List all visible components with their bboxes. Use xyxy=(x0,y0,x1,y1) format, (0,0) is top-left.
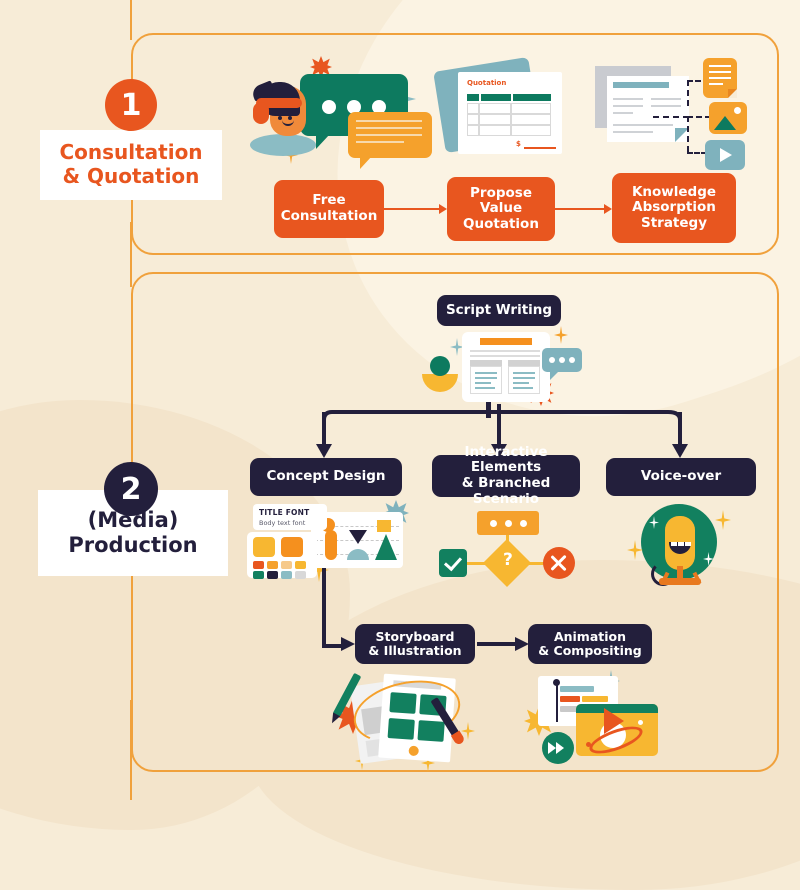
step-knowledge-absorption-strategy[interactable]: KnowledgeAbsorptionStrategy xyxy=(612,173,736,243)
step-storyboard-illustration[interactable]: Storyboard& Illustration xyxy=(355,624,475,664)
animation-compositing-illustration xyxy=(528,670,668,766)
step-label-line: Script Writing xyxy=(446,303,552,319)
step-label-line: Quotation xyxy=(463,216,539,232)
video-play-icon xyxy=(705,140,745,170)
title-font-label: TITLE FONT xyxy=(259,508,309,517)
infographic-canvas: Quotation $ xyxy=(0,0,800,800)
palette-swatch xyxy=(295,561,306,569)
yellow-half-circle xyxy=(422,374,458,392)
amount-symbol: $ xyxy=(516,140,521,148)
step-label-line: Storyboard xyxy=(376,629,455,644)
step-free-consultation[interactable]: FreeConsultation xyxy=(274,180,384,238)
connector-line xyxy=(384,208,440,210)
step-label-line: Consultation xyxy=(281,208,378,224)
stage-2-number-badge: 2 xyxy=(104,462,158,516)
stage-title-line: Consultation xyxy=(59,141,202,165)
step-label-line: Propose xyxy=(470,185,532,201)
font-specimen-card: TITLE FONT Body text font xyxy=(253,504,327,530)
step-script-writing[interactable]: Script Writing xyxy=(437,295,561,326)
stage-1-title: Consultation & Quotation xyxy=(40,130,222,200)
orange-speech-bubble xyxy=(348,112,432,158)
figure-shape xyxy=(325,530,337,560)
stage-1-number-badge: 1 xyxy=(105,79,157,131)
step-concept-design[interactable]: Concept Design xyxy=(250,458,402,496)
close-icon xyxy=(543,547,575,579)
stage-title-line: & Quotation xyxy=(63,165,200,189)
document-stand xyxy=(486,402,491,418)
step-propose-value-quotation[interactable]: ProposeValueQuotation xyxy=(447,177,555,241)
step-label-line: Absorption xyxy=(632,199,716,215)
palette-swatch xyxy=(267,571,278,579)
knowledge-absorption-illustration xyxy=(595,58,755,168)
amount-blank-line xyxy=(524,147,556,149)
document-title-bar xyxy=(480,338,532,345)
document-header-bar xyxy=(613,82,669,88)
palette-swatch xyxy=(281,537,303,557)
step-label-line: & Compositing xyxy=(538,643,641,658)
quotation-document-illustration: Quotation $ xyxy=(437,60,569,168)
step-interactive-elements[interactable]: Interactive Elements& Branched Scenario xyxy=(432,455,580,497)
step-label-line: Animation xyxy=(554,629,626,644)
bubble-dot xyxy=(322,100,336,114)
palette-swatch xyxy=(295,571,306,579)
headphone-cup xyxy=(253,102,269,124)
palette-swatch xyxy=(253,561,264,569)
step-label-line: Value xyxy=(480,200,522,216)
step-label-line: Free xyxy=(312,192,345,208)
document-page xyxy=(607,76,689,142)
timeline-spine-top xyxy=(130,0,132,40)
step-label-line: Strategy xyxy=(641,215,707,231)
green-circle xyxy=(430,356,450,376)
note-icon xyxy=(703,58,737,98)
palette-swatch xyxy=(281,571,292,579)
voice-over-illustration xyxy=(623,500,747,592)
stage-title-line: Production xyxy=(68,533,197,558)
interactive-branching-illustration: ? xyxy=(455,505,587,585)
quotation-sheet: Quotation $ xyxy=(458,72,562,154)
step-label-line: Concept Design xyxy=(266,469,385,485)
storyboard-illustration xyxy=(337,668,489,768)
step-animation-compositing[interactable]: Animation& Compositing xyxy=(528,624,652,664)
image-icon xyxy=(709,102,747,134)
step-label-line: Knowledge xyxy=(632,184,716,200)
concept-design-illustration: TITLE FONT Body text font xyxy=(247,500,407,580)
step-label-line: Interactive Elements xyxy=(464,444,547,476)
step-label-line: & Branched Scenario xyxy=(462,475,551,507)
quotation-title: Quotation xyxy=(467,79,506,87)
orange-dots-bar xyxy=(477,511,539,535)
character-head xyxy=(256,82,308,138)
step-voice-over[interactable]: Voice-over xyxy=(606,458,756,496)
consultation-character-chat-illustration xyxy=(248,58,416,170)
connector-line xyxy=(555,208,605,210)
figure-shape xyxy=(349,530,367,544)
check-icon xyxy=(439,549,467,577)
palette-swatch xyxy=(253,571,264,579)
question-mark-label: ? xyxy=(503,550,513,570)
script-writing-illustration xyxy=(420,330,590,412)
figure-head xyxy=(377,520,391,532)
fast-forward-icon xyxy=(542,732,574,764)
palette-swatch xyxy=(253,537,275,557)
figure-shape xyxy=(347,549,369,560)
sparkle-icon xyxy=(715,510,731,530)
palette-swatch xyxy=(267,561,278,569)
microphone-base xyxy=(659,578,701,585)
teal-chat-bubble xyxy=(542,348,582,372)
figure-shape xyxy=(375,534,397,560)
script-document xyxy=(462,332,550,402)
arrow-icon xyxy=(604,204,612,214)
palette-swatch xyxy=(281,561,292,569)
arrow-icon xyxy=(439,204,447,214)
color-palette-card xyxy=(247,532,317,578)
play-arrow-icon xyxy=(604,708,624,734)
step-label-line: & Illustration xyxy=(368,643,461,658)
step-label-line: Voice-over xyxy=(641,469,721,485)
body-font-label: Body text font xyxy=(259,519,305,527)
